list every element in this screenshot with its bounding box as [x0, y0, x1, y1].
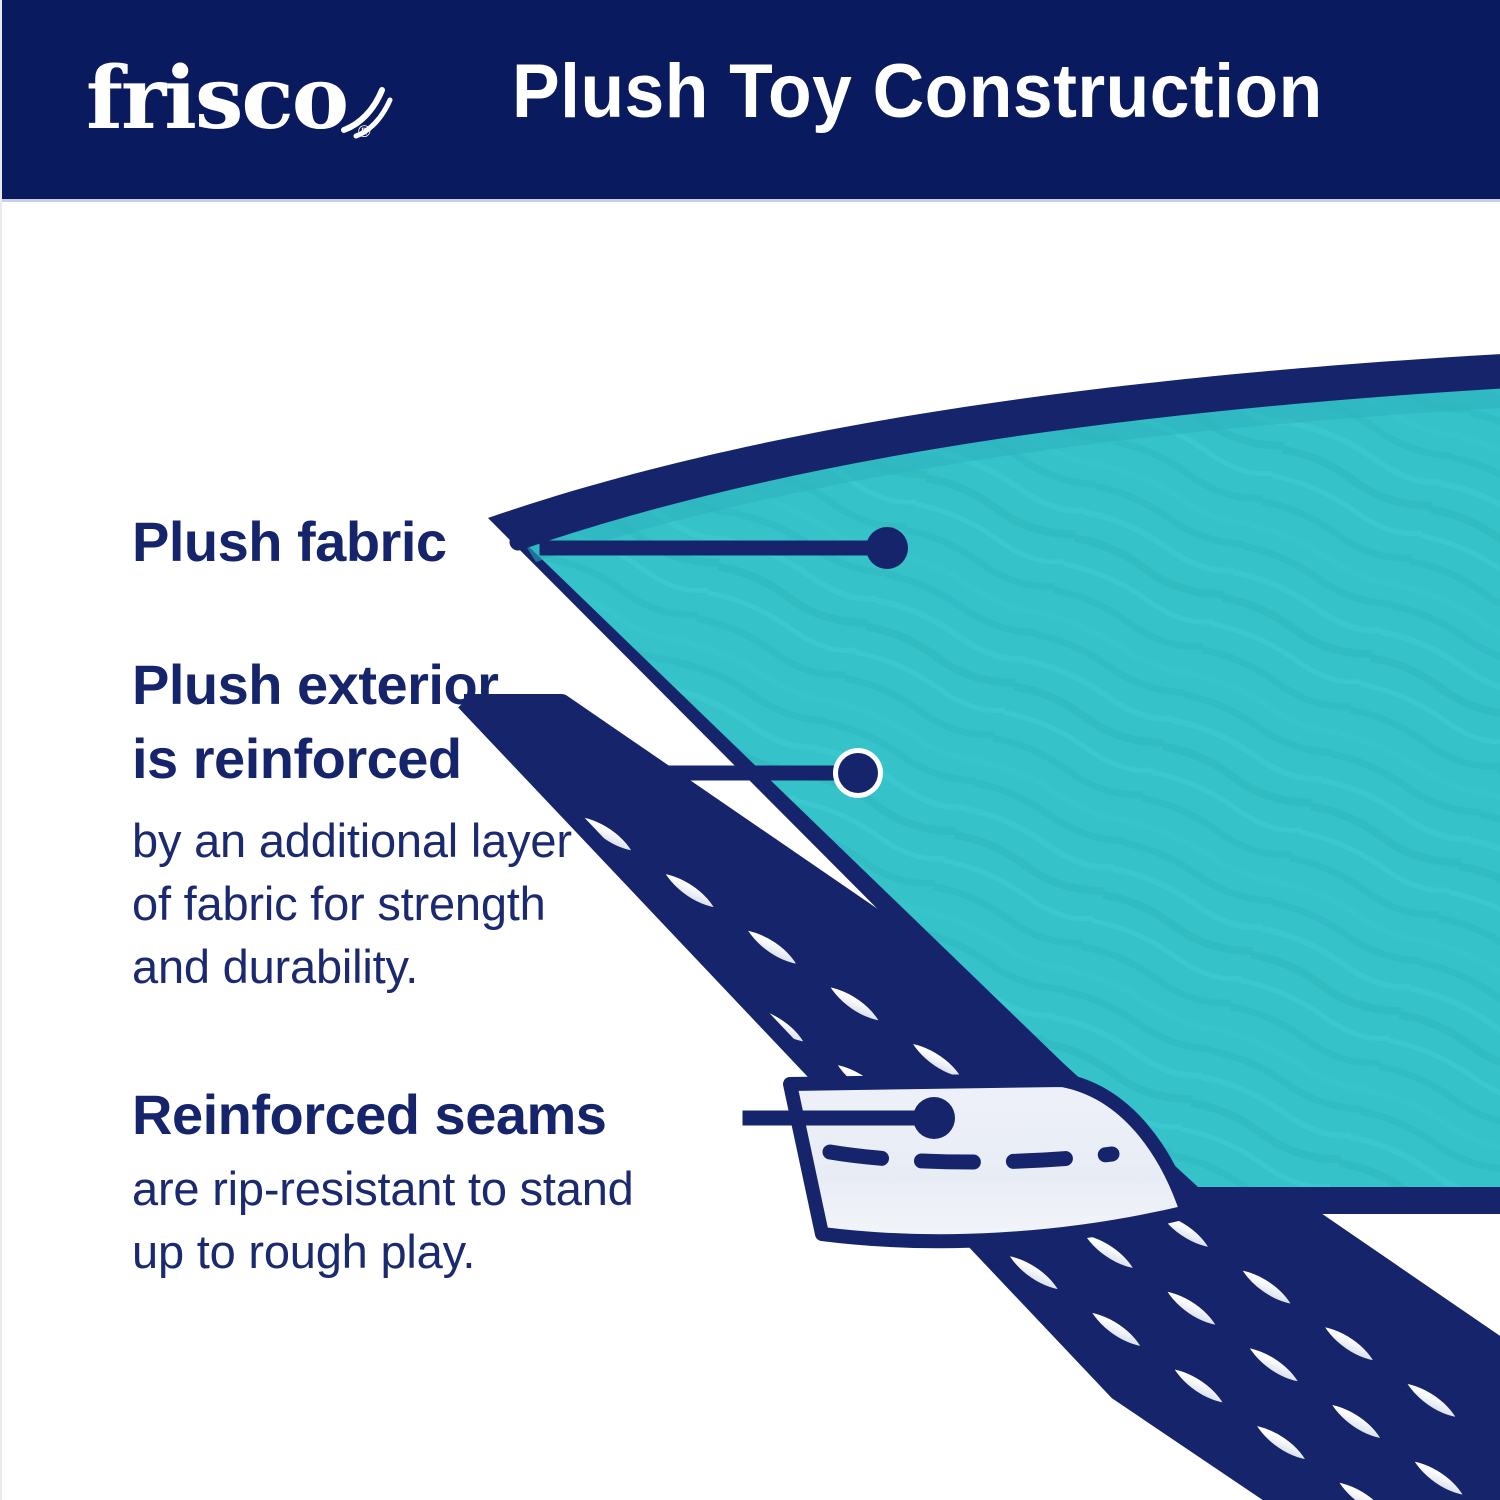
callout-reinforced-seams-body: are rip-resistant to stand up to rough p…: [132, 1158, 634, 1284]
callout-plush-exterior-headline: Plush exterior is reinforced: [132, 648, 572, 796]
callout-plush-exterior-body: by an additional layer of fabric for str…: [132, 810, 572, 999]
leader-dot-plush-fabric: [866, 527, 908, 569]
callout-reinforced-seams: Reinforced seams are rip-resistant to st…: [132, 1078, 634, 1284]
callout-reinforced-seams-headline: Reinforced seams: [132, 1078, 634, 1152]
callout-plush-fabric: Plush fabric: [132, 505, 447, 579]
leader-dot-reinforced-seams: [913, 1097, 955, 1139]
infographic-page: frisco ® Plush Toy Construction: [0, 0, 1500, 1500]
callout-plush-fabric-headline: Plush fabric: [132, 505, 447, 579]
header-bar: frisco ® Plush Toy Construction: [2, 0, 1500, 202]
frisco-logo: frisco ®: [86, 44, 386, 154]
callout-plush-exterior: Plush exterior is reinforced by an addit…: [132, 648, 572, 999]
reinforced-seam-patch: [790, 1080, 1187, 1241]
registered-trademark-icon: ®: [358, 122, 371, 142]
leader-dot-plush-exterior: [838, 753, 878, 793]
page-title: Plush Toy Construction: [512, 48, 1323, 135]
brand-wordmark: frisco: [86, 44, 386, 154]
